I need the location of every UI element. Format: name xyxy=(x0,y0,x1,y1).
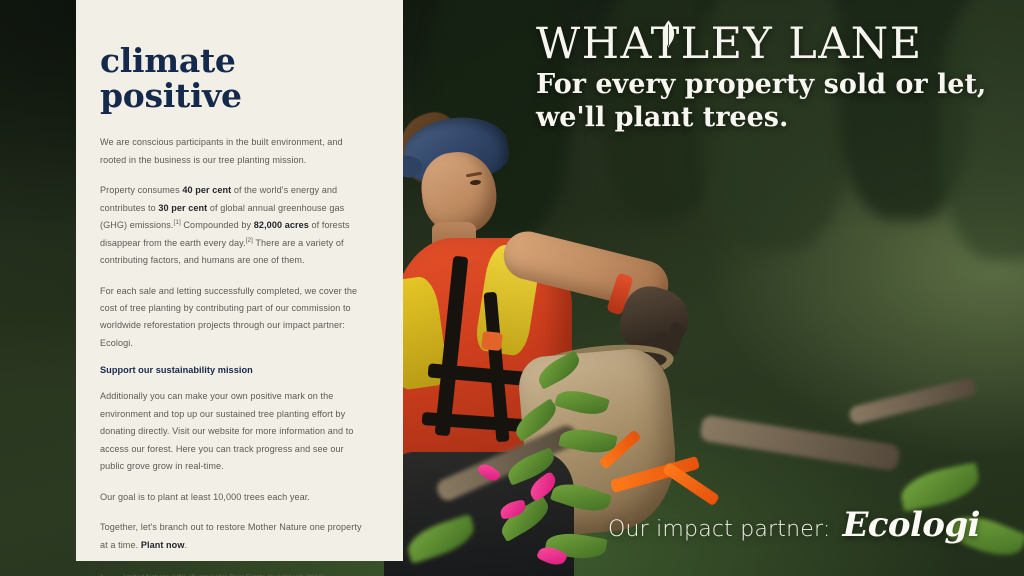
stat-40-per-cent: 40 per cent xyxy=(182,185,231,195)
section-subheading: Support our sustainability mission xyxy=(100,365,369,375)
paragraph-donate: Additionally you can make your own posit… xyxy=(100,388,369,475)
impact-partner-label: Our impact partner: xyxy=(608,517,830,542)
paragraph-commission: For each sale and letting successfully c… xyxy=(100,283,369,353)
closing-text: Together, let's branch out to restore Mo… xyxy=(100,522,362,549)
poster-canvas: climate positive We are conscious partic… xyxy=(0,0,1024,576)
footnote-list: 1. United Nations (UN), 'Sustainable Rea… xyxy=(100,572,369,576)
hero-text-block: WHATLEY LANE For every property sold or … xyxy=(536,22,1016,135)
stat-30-per-cent: 30 per cent xyxy=(158,203,207,213)
footnote-ref-2: [2] xyxy=(246,237,253,244)
brand-wordmark: WHATLEY LANE xyxy=(536,22,1016,67)
footnote-item: 1. United Nations (UN), 'Sustainable Rea… xyxy=(100,572,369,576)
tagline-line-2: we'll plant trees. xyxy=(536,102,1016,135)
stat-text-a: Property consumes xyxy=(100,185,182,195)
stat-82000-acres: 82,000 acres xyxy=(254,220,309,230)
paragraph-statistics: Property consumes 40 per cent of the wor… xyxy=(100,182,369,269)
footnote-text: United Nations (UN), 'Sustainable Real E… xyxy=(124,572,325,576)
harness-buckle xyxy=(481,331,503,351)
footnote-number: 1. xyxy=(100,572,124,576)
paragraph-closing: Together, let's branch out to restore Mo… xyxy=(100,519,369,554)
tagline-line-1: For every property sold or let, xyxy=(536,69,1016,102)
leaf-icon xyxy=(660,19,677,49)
plant-now-link[interactable]: Plant now xyxy=(141,540,185,550)
stat-text-e: Compounded by xyxy=(181,220,254,230)
brand-name: WHATLEY LANE xyxy=(536,19,923,69)
paragraph-intro: We are conscious participants in the bui… xyxy=(100,134,369,169)
paragraph-goal: Our goal is to plant at least 10,000 tre… xyxy=(100,489,369,506)
ecologi-logo: Ecologi xyxy=(842,505,979,545)
footnote-ref-1: [1] xyxy=(174,219,181,226)
hero-tagline: For every property sold or let, we'll pl… xyxy=(536,69,1016,135)
climate-positive-card: climate positive We are conscious partic… xyxy=(76,0,403,561)
page-title: climate positive xyxy=(100,44,369,113)
closing-period: . xyxy=(184,540,187,550)
impact-partner-lockup: Our impact partner: Ecologi xyxy=(608,505,980,545)
